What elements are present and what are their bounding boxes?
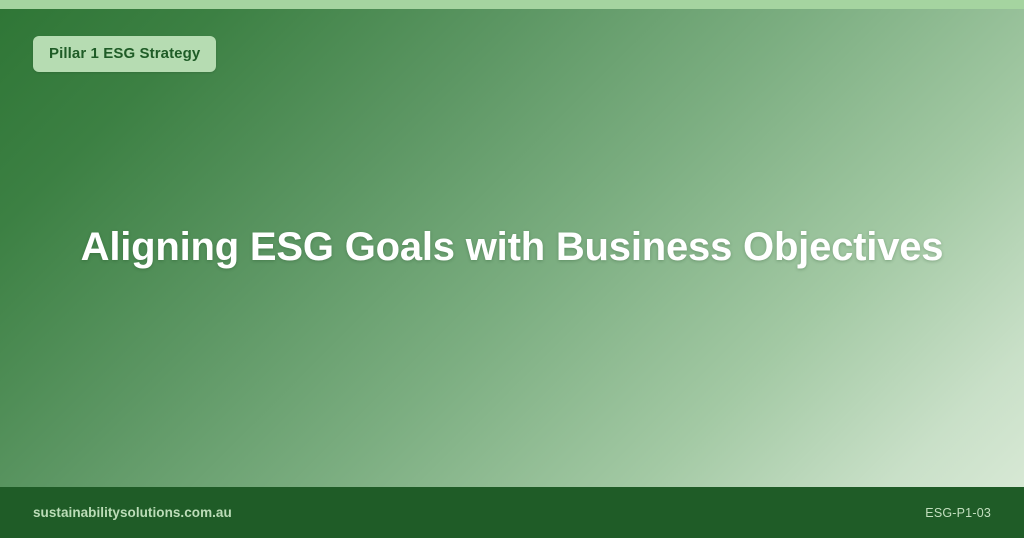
title-block: Aligning ESG Goals with Business Objecti…: [0, 9, 1024, 487]
footer-website: sustainabilitysolutions.com.au: [33, 505, 232, 520]
slide-title: Aligning ESG Goals with Business Objecti…: [81, 224, 944, 271]
slide-root: Pillar 1 ESG Strategy Aligning ESG Goals…: [0, 0, 1024, 538]
footer-slide-code: ESG-P1-03: [925, 506, 991, 520]
slide-canvas: Pillar 1 ESG Strategy Aligning ESG Goals…: [0, 9, 1024, 538]
footer-bar: sustainabilitysolutions.com.au ESG-P1-03: [0, 487, 1024, 538]
